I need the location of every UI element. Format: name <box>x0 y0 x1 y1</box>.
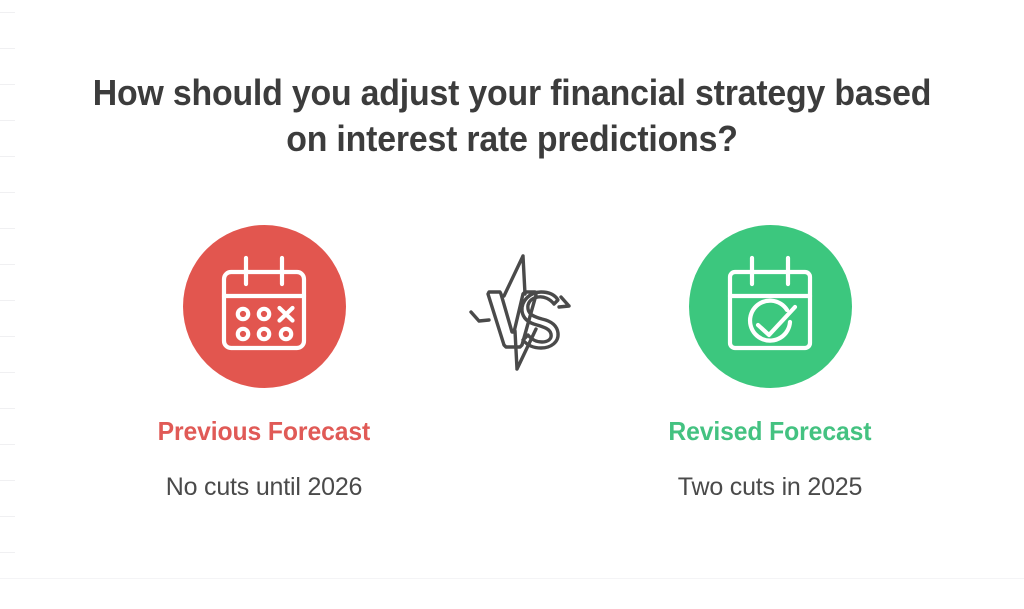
previous-forecast-detail: No cuts until 2026 <box>166 473 363 502</box>
vs-burst-icon <box>462 250 578 375</box>
revised-forecast-label: Revised Forecast <box>668 416 871 447</box>
slide-canvas: How should you adjust your financial str… <box>0 0 1024 609</box>
page-title-line-2: on interest rate predictions? <box>68 116 955 162</box>
page-title-line-1: How should you adjust your financial str… <box>68 70 955 116</box>
calendar-check-icon <box>716 250 824 363</box>
comparison-column-revised: Revised Forecast Two cuts in 2025 <box>605 215 935 502</box>
calendar-x-icon <box>210 250 318 363</box>
revised-forecast-detail: Two cuts in 2025 <box>678 473 862 502</box>
comparison-column-previous: Previous Forecast No cuts until 2026 <box>99 215 429 502</box>
previous-forecast-badge <box>183 225 346 388</box>
page-title: How should you adjust your financial str… <box>31 70 994 162</box>
revised-forecast-badge <box>689 225 852 388</box>
previous-forecast-label: Previous Forecast <box>158 416 371 447</box>
comparison-row: Previous Forecast No cuts until 2026 <box>0 215 1024 515</box>
